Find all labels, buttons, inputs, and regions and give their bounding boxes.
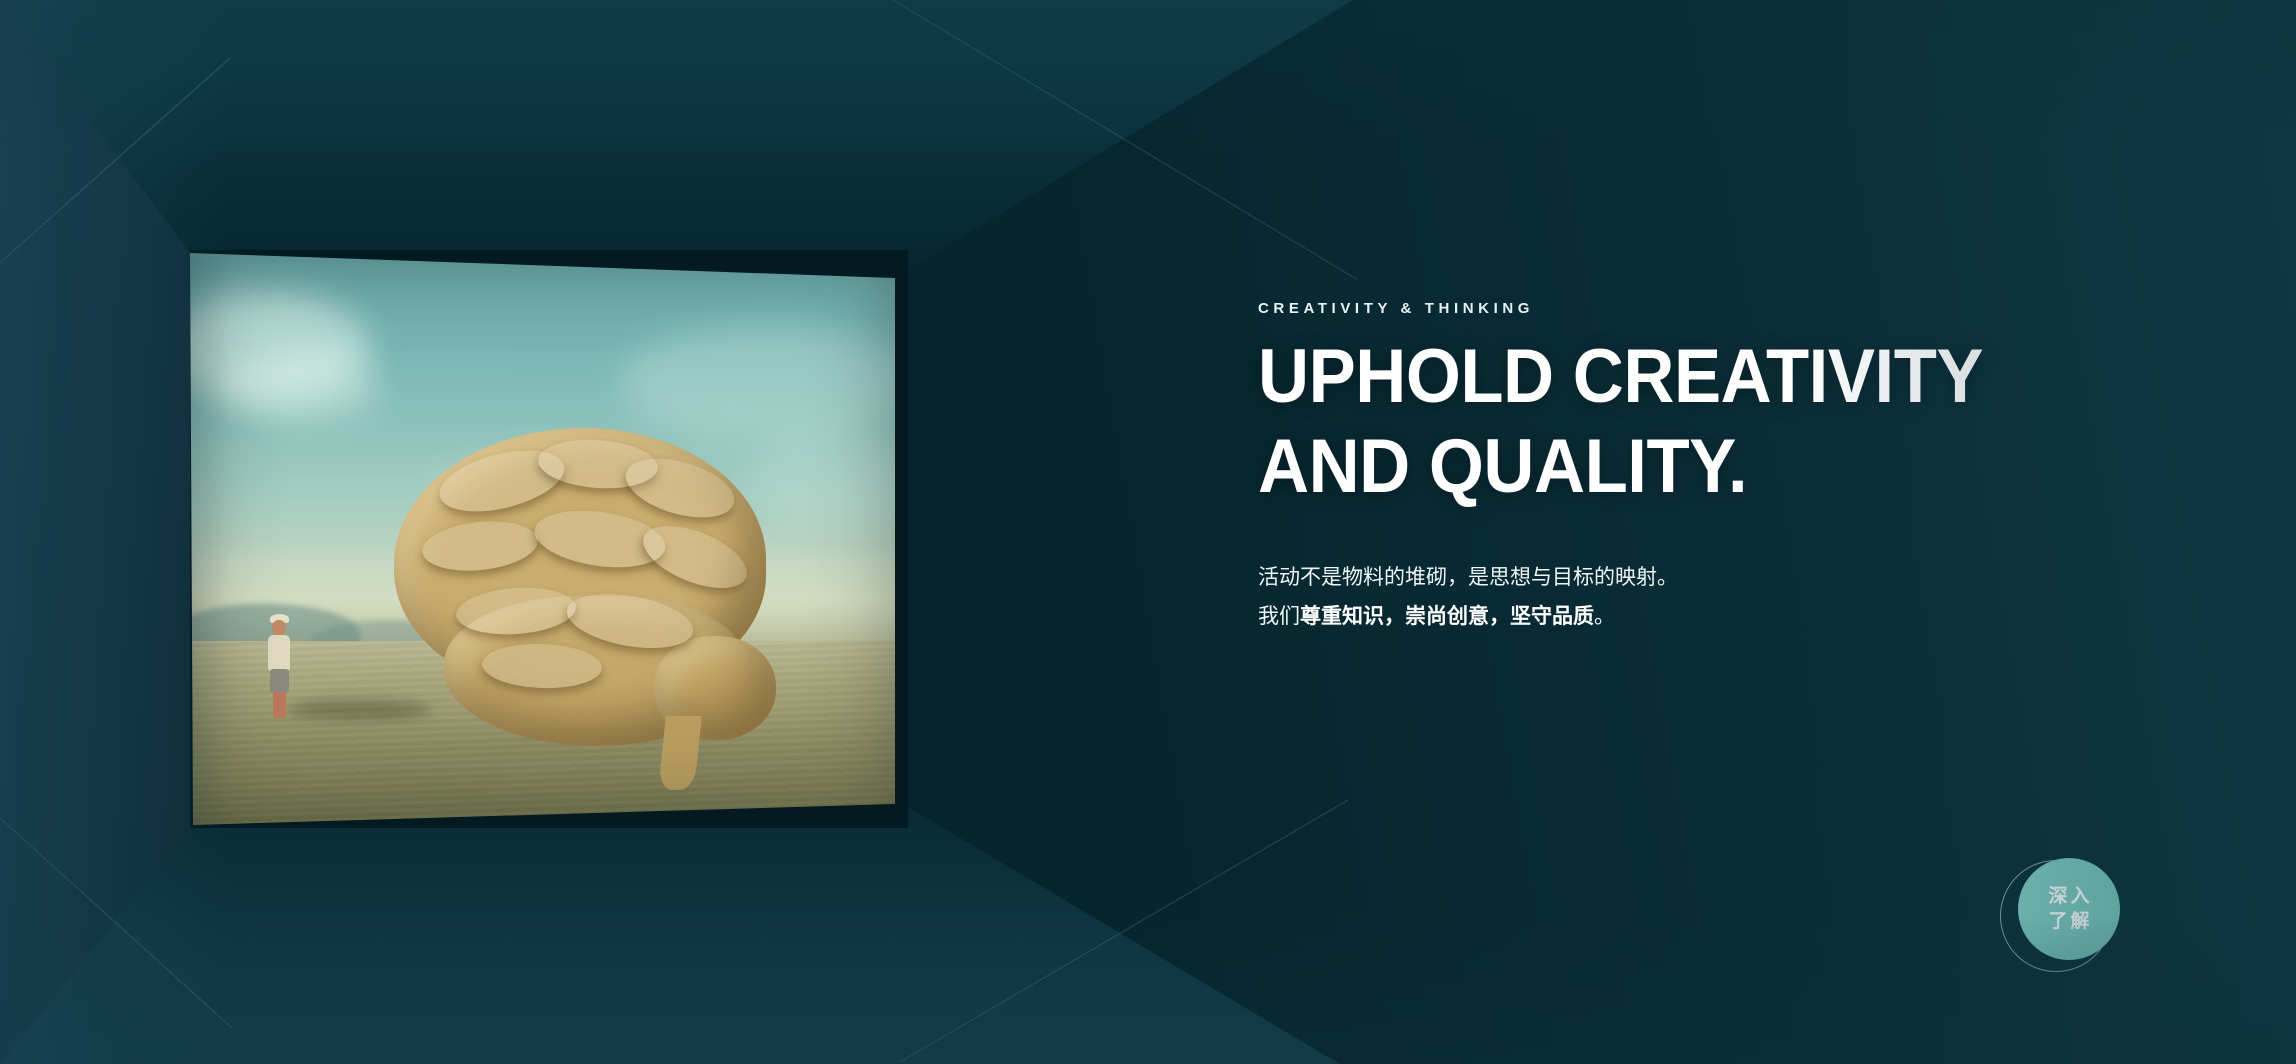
hero-image-panel bbox=[190, 252, 902, 826]
page-title: UPHOLD CREATIVITY AND QUALITY. bbox=[1258, 339, 2095, 505]
body-line-2: 我们尊重知识，崇尚创意，坚守品质。 bbox=[1258, 598, 2158, 637]
cloud-shape bbox=[220, 352, 380, 422]
person-legs bbox=[273, 692, 286, 718]
cloud-shape bbox=[620, 322, 902, 442]
person-head bbox=[272, 620, 286, 636]
headline-line-2: AND QUALITY. bbox=[1258, 429, 2095, 505]
person-shirt bbox=[268, 635, 290, 671]
hero-content: CREATIVITY & THINKING UPHOLD CREATIVITY … bbox=[1258, 300, 2158, 637]
cta-label-line-2: 了解 bbox=[2045, 909, 2092, 934]
person-cast-shadow bbox=[288, 700, 430, 720]
headline-line-1: UPHOLD CREATIVITY bbox=[1258, 339, 2095, 415]
body-copy: 活动不是物料的堆砌，是思想与目标的映射。 我们尊重知识，崇尚创意，坚守品质。 bbox=[1258, 559, 2158, 637]
brain-desert-photo bbox=[190, 252, 902, 826]
body-line-2-suffix: 。 bbox=[1594, 605, 1615, 628]
cta-label-line-1: 深入 bbox=[2045, 884, 2092, 909]
body-line-2-prefix: 我们 bbox=[1258, 605, 1300, 628]
cta-disc[interactable]: 深入 了解 bbox=[2018, 858, 2120, 960]
standing-person bbox=[264, 614, 294, 720]
hero-stage: CREATIVITY & THINKING UPHOLD CREATIVITY … bbox=[0, 0, 2296, 1064]
body-line-2-emphasis: 尊重知识，崇尚创意，坚守品质 bbox=[1300, 605, 1594, 628]
learn-more-button[interactable]: 深入 了解 bbox=[2004, 858, 2120, 974]
body-line-1: 活动不是物料的堆砌，是思想与目标的映射。 bbox=[1258, 559, 2158, 598]
person-shorts bbox=[270, 669, 289, 693]
giant-brain-sculpture bbox=[386, 428, 786, 776]
eyebrow-label: CREATIVITY & THINKING bbox=[1258, 300, 2158, 317]
